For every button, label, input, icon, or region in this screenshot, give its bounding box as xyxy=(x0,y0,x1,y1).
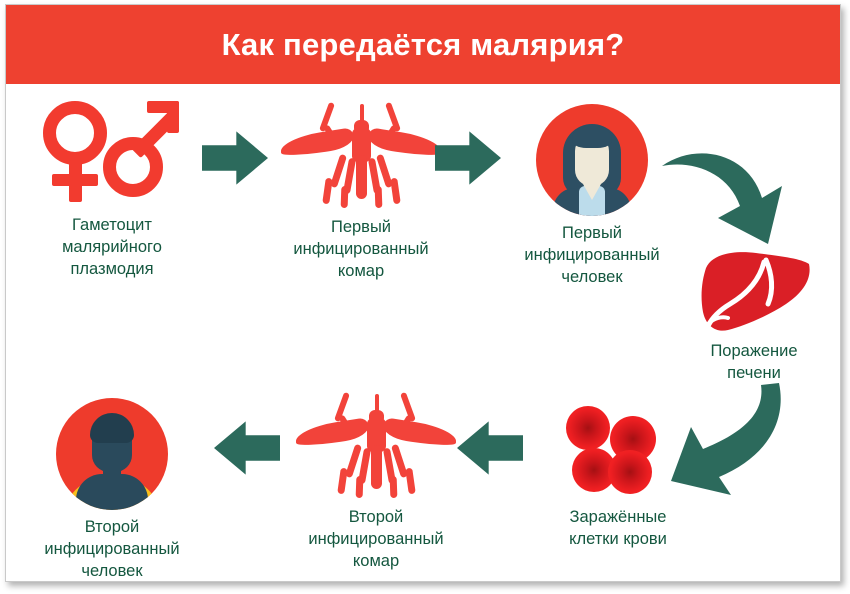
mosquito-art xyxy=(271,92,451,210)
title-banner: Как передаётся малярия? xyxy=(6,5,840,84)
diagram-stage: Гаметоцит малярийного плазмодия xyxy=(6,84,840,581)
step-second-mosquito: Второй инфицированный комар xyxy=(286,382,466,573)
arrow-curve-down-right-icon xyxy=(656,136,796,246)
man-avatar-icon xyxy=(56,398,168,510)
mosquito-leg-2 xyxy=(337,468,348,495)
mosquito-icon xyxy=(286,98,436,210)
step-blood-cells: Заражённые клетки крови xyxy=(528,404,708,551)
woman-avatar-icon xyxy=(536,104,648,216)
arrow-left-2-icon xyxy=(214,419,280,477)
woman-fringe xyxy=(572,126,612,148)
step-caption: Первый инфицированный комар xyxy=(271,217,451,283)
female-circle-icon xyxy=(43,101,107,165)
step-first-mosquito: Первый инфицированный комар xyxy=(271,92,451,283)
arrow-right-1-icon xyxy=(202,129,268,187)
step-second-human: Второй инфицированный человек xyxy=(18,396,206,582)
blood-cell-4 xyxy=(608,450,652,494)
liver-icon xyxy=(694,248,814,334)
man-hair xyxy=(90,413,134,443)
step-liver: Поражение печени xyxy=(674,246,834,385)
mosquito-leg-8 xyxy=(405,468,416,495)
blood-cells-icon xyxy=(558,404,678,500)
male-arrowhead-side-icon xyxy=(167,101,179,133)
mosquito-leg-2 xyxy=(322,178,333,205)
infographic-card: Как передаётся малярия? Гаметоцит маляри… xyxy=(5,4,841,582)
step-caption: Заражённые клетки крови xyxy=(528,507,708,551)
mosquito-art xyxy=(286,382,466,500)
mosquito-leg-4 xyxy=(356,476,364,498)
liver-art xyxy=(674,246,834,334)
step-caption: Второй инфицированный человек xyxy=(18,517,206,582)
arrow-left-1-icon xyxy=(457,419,523,477)
mosquito-leg-8 xyxy=(390,178,401,205)
mosquito-icon xyxy=(301,388,451,500)
female-cross-icon xyxy=(52,174,98,186)
blood-cells-art xyxy=(528,404,708,500)
step-caption: Гаметоцит малярийного плазмодия xyxy=(24,215,200,281)
mosquito-leg-4 xyxy=(341,186,349,208)
mosquito-abdomen xyxy=(356,155,367,199)
page-title: Как передаётся малярия? xyxy=(222,27,625,63)
blood-cell-1 xyxy=(566,406,610,450)
step-caption: Второй инфицированный комар xyxy=(286,507,466,573)
step-gametocyte: Гаметоцит малярийного плазмодия xyxy=(24,96,200,281)
man-avatar-art xyxy=(18,396,206,510)
gender-symbols-icon xyxy=(37,98,187,208)
mosquito-abdomen xyxy=(371,445,382,489)
mosquito-leg-6 xyxy=(375,186,383,208)
gender-symbols-art xyxy=(24,96,200,208)
mosquito-leg-6 xyxy=(390,476,398,498)
